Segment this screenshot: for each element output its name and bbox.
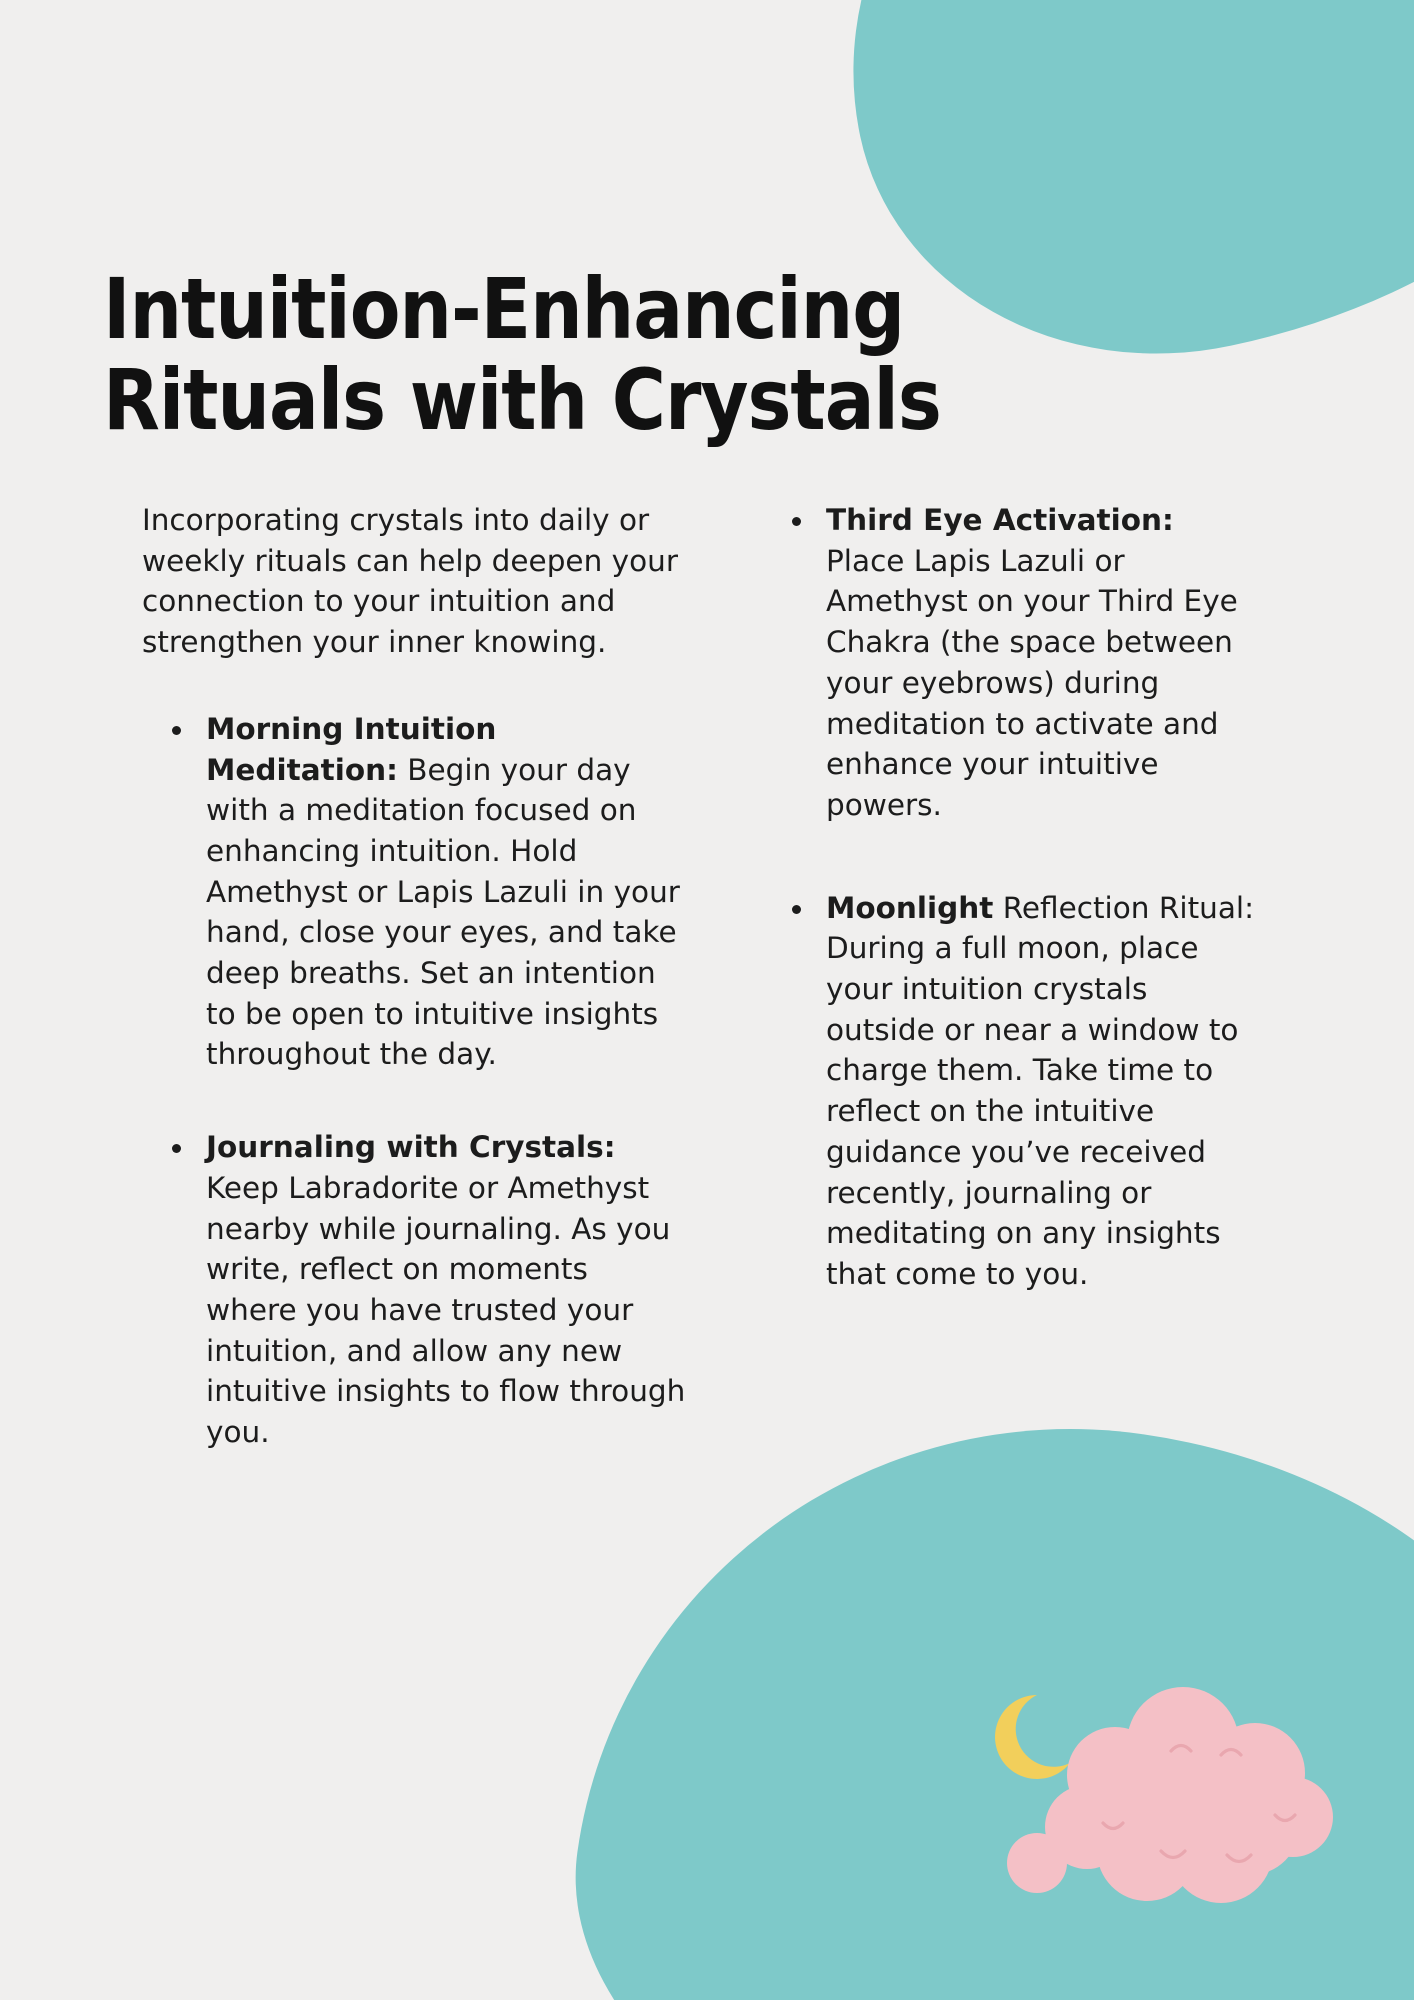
left-bullet-list: Morning Intuition Meditation: Begin your…	[142, 709, 687, 1453]
bullet-body: Reflection Ritual: During a full moon, p…	[826, 891, 1254, 1291]
right-column: Third Eye Activation: Place Lapis Lazuli…	[786, 500, 1256, 1357]
list-item: Moonlight Reflection Ritual: During a fu…	[786, 888, 1256, 1295]
list-item: Third Eye Activation: Place Lapis Lazuli…	[786, 500, 1256, 826]
bullet-body: Begin your day with a meditation focused…	[206, 753, 680, 1072]
poster-content: Intuition-Enhancing Rituals with Crystal…	[0, 0, 1414, 2000]
right-bullet-list: Third Eye Activation: Place Lapis Lazuli…	[786, 500, 1256, 1295]
bullet-body: Place Lapis Lazuli or Amethyst on your T…	[826, 544, 1238, 822]
bullet-lead: Third Eye Activation:	[826, 503, 1174, 537]
bullet-body: Keep Labradorite or Amethyst nearby whil…	[206, 1171, 685, 1449]
bullet-lead: Journaling with Crystals:	[206, 1130, 616, 1164]
left-column: Incorporating crystals into daily or wee…	[142, 500, 687, 1453]
list-item: Journaling with Crystals: Keep Labradori…	[142, 1127, 687, 1453]
poster-page: Intuition-Enhancing Rituals with Crystal…	[0, 0, 1414, 2000]
list-item: Morning Intuition Meditation: Begin your…	[142, 709, 687, 1075]
bullet-lead: Moonlight	[826, 891, 993, 925]
page-title: Intuition-Enhancing Rituals with Crystal…	[103, 264, 948, 445]
intro-paragraph: Incorporating crystals into daily or wee…	[142, 500, 687, 663]
